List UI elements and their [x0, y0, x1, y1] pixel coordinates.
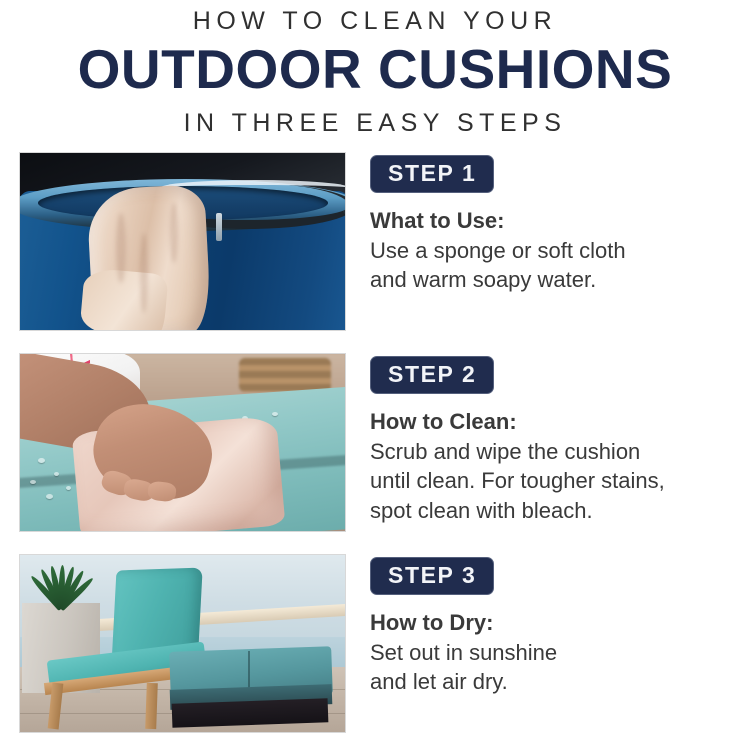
step-2-body-line: spot clean with bleach. — [370, 496, 740, 525]
step-3-text: STEP 3 How to Dry: Set out in sunshine a… — [370, 557, 740, 697]
water-droplet — [272, 412, 278, 416]
step-3-heading: How to Dry: — [370, 609, 740, 637]
step-1-body-line: Use a sponge or soft cloth — [370, 236, 740, 265]
cloth-crease-icon — [170, 203, 178, 263]
step-2-badge: STEP 2 — [370, 356, 494, 394]
step-row: STEP 1 What to Use: Use a sponge or soft… — [0, 152, 750, 332]
step-3-body-line: Set out in sunshine — [370, 638, 740, 667]
step-1-body: Use a sponge or soft cloth and warm soap… — [370, 236, 740, 295]
page-title: OUTDOOR CUSHIONS — [0, 40, 750, 99]
cloth-crease-icon — [140, 233, 148, 313]
step-1-badge: STEP 1 — [370, 155, 494, 193]
infographic-header: HOW TO CLEAN YOUR OUTDOOR CUSHIONS IN TH… — [0, 0, 750, 136]
step-1-heading: What to Use: — [370, 207, 740, 235]
steps-list: STEP 1 What to Use: Use a sponge or soft… — [0, 152, 750, 755]
header-subkicker: IN THREE EASY STEPS — [0, 110, 750, 136]
cloth-crease-icon — [116, 213, 126, 283]
lounge-leg — [145, 683, 158, 729]
water-droplet — [30, 480, 36, 484]
cleaning-cloth-fold — [79, 267, 168, 331]
bucket-pour-tab — [216, 213, 222, 241]
step-3-badge: STEP 3 — [370, 557, 494, 595]
step-3-photo — [19, 554, 346, 733]
step-2-heading: How to Clean: — [370, 408, 740, 436]
water-droplet — [66, 486, 71, 490]
step-1-body-line: and warm soapy water. — [370, 265, 740, 294]
step-2-body-line: until clean. For tougher stains, — [370, 466, 740, 495]
step-2-photo — [19, 353, 346, 532]
step-3-body: Set out in sunshine and let air dry. — [370, 638, 740, 697]
header-kicker: HOW TO CLEAN YOUR — [0, 8, 750, 34]
step-1-photo — [19, 152, 346, 331]
step-3-body-line: and let air dry. — [370, 667, 740, 696]
step-2-body: Scrub and wipe the cushion until clean. … — [370, 437, 740, 525]
water-droplet — [54, 472, 59, 476]
stacked-cushions-background — [239, 358, 331, 392]
step-row: STEP 2 How to Clean: Scrub and wipe the … — [0, 353, 750, 533]
step-1-text: STEP 1 What to Use: Use a sponge or soft… — [370, 155, 740, 295]
step-row: STEP 3 How to Dry: Set out in sunshine a… — [0, 554, 750, 734]
step-2-body-line: Scrub and wipe the cushion — [370, 437, 740, 466]
water-droplet — [38, 458, 45, 463]
agave-plant — [24, 557, 102, 609]
step-2-text: STEP 2 How to Clean: Scrub and wipe the … — [370, 356, 740, 525]
water-droplet — [46, 494, 53, 499]
